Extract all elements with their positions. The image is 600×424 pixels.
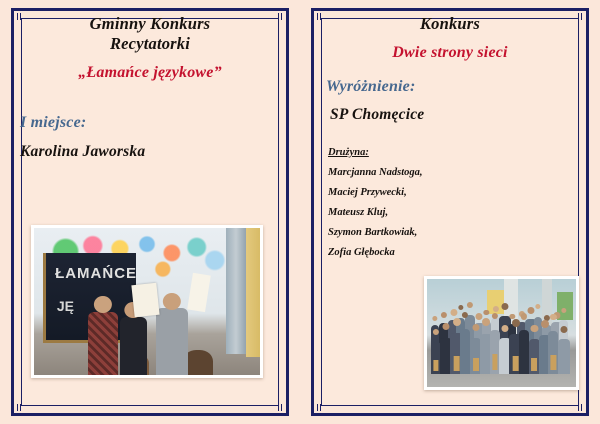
group-award-ceremony-photo <box>424 276 579 390</box>
gift-bag <box>473 358 479 371</box>
team-member: Marcjanna Nadstoga, <box>328 167 580 178</box>
contest-title: Konkurs <box>320 14 580 34</box>
contest-subtitle: Dwie strony sieci <box>320 43 580 63</box>
gift-bag <box>433 360 438 372</box>
chalkboard-text-line-2: JĘ <box>57 298 74 314</box>
winner-block: I miejsce: Karolina Jaworska <box>20 113 280 162</box>
gift-bag <box>532 358 538 371</box>
stage-recital-photo: ŁAMAŃCE JĘ <box>31 225 263 378</box>
team-label: Drużyna: <box>328 147 580 158</box>
held-paper <box>187 272 211 311</box>
student <box>460 312 470 374</box>
student <box>490 313 500 374</box>
gift-bag <box>453 356 460 371</box>
two-page-spread: Gminny Konkurs Recytatorki „Łamańce języ… <box>0 0 600 424</box>
right-page: Konkurs Dwie strony sieci Wyróżnienie: S… <box>300 0 600 424</box>
contest-title-line-1: Gminny Konkurs <box>20 14 280 34</box>
gift-bag <box>512 356 519 370</box>
school-name: SP Chomęcice <box>326 106 580 125</box>
team-member: Szymon Bartkowiak, <box>328 227 580 238</box>
wall-panel <box>246 228 260 357</box>
right-page-heading-group: Konkurs Dwie strony sieci <box>320 14 580 63</box>
student <box>548 314 558 374</box>
gift-bag <box>492 354 497 370</box>
winner-name: Karolina Jaworska <box>20 143 280 162</box>
contest-subtitle: „Łamańce językowe” <box>20 63 280 83</box>
team-member: Zofia Głębocka <box>328 247 580 258</box>
student <box>558 326 569 374</box>
award-label: Wyróżnienie: <box>326 77 580 97</box>
left-page: Gminny Konkurs Recytatorki „Łamańce języ… <box>0 0 300 424</box>
child-performer <box>88 296 117 375</box>
left-page-heading-group: Gminny Konkurs Recytatorki „Łamańce języ… <box>20 14 280 83</box>
contest-title-line-2: Recytatorki <box>20 34 280 54</box>
crowd-row-front <box>430 311 573 374</box>
hall-background <box>427 279 576 387</box>
child-performer <box>156 293 188 375</box>
place-label: I miejsce: <box>20 113 280 133</box>
chalkboard-text-line-1: ŁAMAŃCE <box>55 265 137 282</box>
curtain <box>226 228 246 354</box>
team-member: Mateusz Kluj, <box>328 207 580 218</box>
student <box>519 313 529 374</box>
team-list: Drużyna: Marcjanna Nadstoga, Maciej Przy… <box>320 147 580 258</box>
gift-bag <box>551 355 556 371</box>
student <box>431 329 441 374</box>
held-paper <box>132 283 160 318</box>
team-member: Maciej Przywecki, <box>328 187 580 198</box>
award-block: Wyróżnienie: SP Chomęcice <box>320 77 580 125</box>
